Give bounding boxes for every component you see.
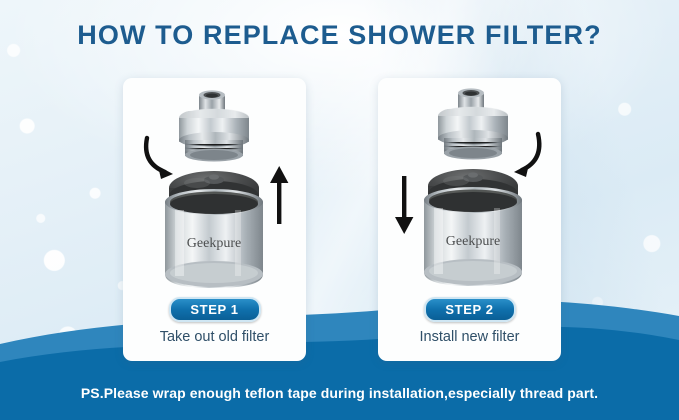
filter-illustration-step-1: Geekpure <box>123 84 306 299</box>
curved-arrow-counterclockwise-step-1 <box>146 138 173 179</box>
arrow-down-step-2 <box>395 176 413 234</box>
curved-arrow-clockwise-step-2 <box>514 134 539 177</box>
brand-label-step-1: Geekpure <box>187 236 241 251</box>
filter-illustration-step-2: Geekpure <box>378 84 561 299</box>
step-caption-1: Take out old filter <box>123 329 306 345</box>
step-badge-1: STEP 1 <box>169 297 261 322</box>
step-caption-2: Install new filter <box>378 329 561 345</box>
step-card-2[interactable]: Geekpure STEP 2 Install new filter <box>378 78 561 361</box>
footer-note: PS.Please wrap enough teflon tape during… <box>0 385 679 401</box>
brand-label-step-2: Geekpure <box>446 234 500 249</box>
infographic-root: HOW TO REPLACE SHOWER FILTER? <box>0 0 679 420</box>
step-card-1[interactable]: Geekpure STEP 1 Take out old filter <box>123 78 306 361</box>
step-badge-2: STEP 2 <box>424 297 516 322</box>
wave-decoration <box>0 300 679 420</box>
page-title: HOW TO REPLACE SHOWER FILTER? <box>0 20 679 51</box>
arrow-up-step-1 <box>270 166 288 224</box>
